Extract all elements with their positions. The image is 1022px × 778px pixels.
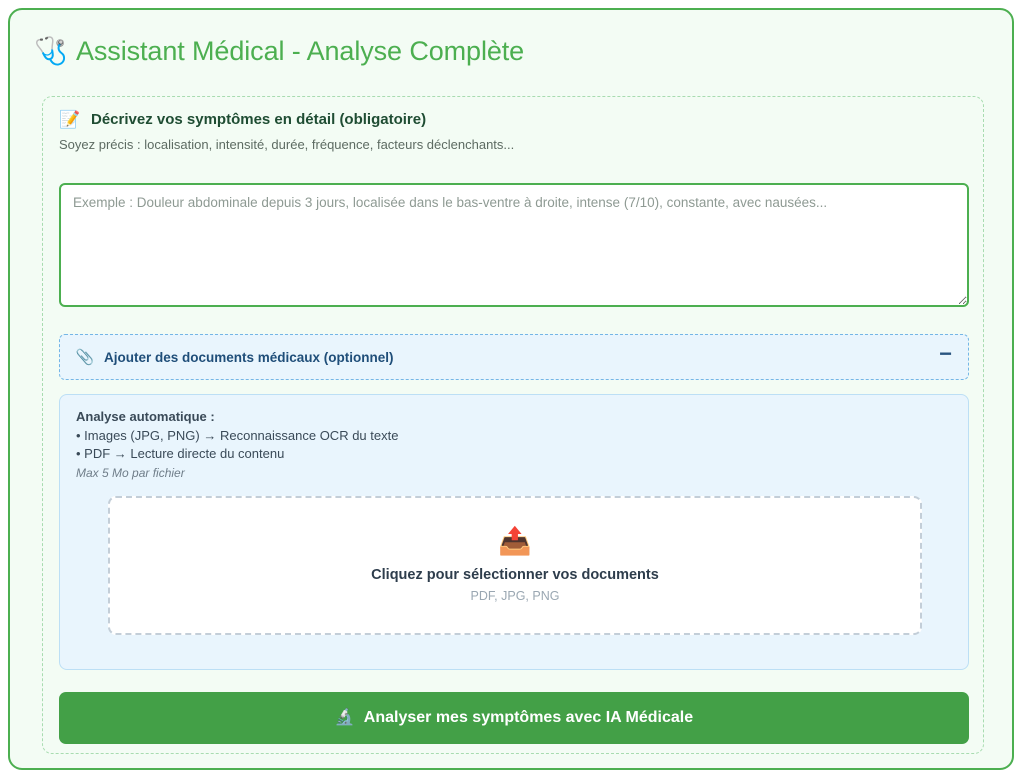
upload-tray-icon: 📤 <box>498 528 532 555</box>
attachments-label: Ajouter des documents médicaux (optionne… <box>104 350 394 365</box>
paperclip-icon: 📎 <box>74 350 96 365</box>
auto-analysis-line-images: • Images (JPG, PNG) → Reconnaissance OCR… <box>76 427 952 445</box>
symptoms-section-header: 📝 Décrivez vos symptômes en détail (obli… <box>43 97 983 128</box>
page-title: Assistant Médical - Analyse Complète <box>76 36 524 67</box>
analyze-symptoms-button[interactable]: 🔬 Analyser mes symptômes avec IA Médical… <box>59 692 969 744</box>
file-dropzone[interactable]: 📤 Cliquez pour sélectionner vos document… <box>108 496 922 635</box>
microscope-icon: 🔬 <box>335 710 355 726</box>
symptoms-hint: Soyez précis : localisation, intensité, … <box>43 128 983 152</box>
auto-analysis-title: Analyse automatique : <box>76 409 952 424</box>
attachments-panel: Analyse automatique : • Images (JPG, PNG… <box>59 394 969 670</box>
dropzone-label: Cliquez pour sélectionner vos documents <box>371 567 659 583</box>
memo-icon: 📝 <box>59 111 81 128</box>
form-panel: 📝 Décrivez vos symptômes en détail (obli… <box>42 96 984 754</box>
symptoms-label: Décrivez vos symptômes en détail (obliga… <box>91 111 426 128</box>
symptoms-input[interactable] <box>59 183 969 307</box>
app-card: 🩺 Assistant Médical - Analyse Complète 📝… <box>8 8 1014 770</box>
app-header: 🩺 Assistant Médical - Analyse Complète <box>10 10 1012 72</box>
collapse-minus-icon[interactable]: − <box>939 348 952 366</box>
analyze-button-label: Analyser mes symptômes avec IA Médicale <box>364 709 693 727</box>
attachments-toggle-header[interactable]: 📎 Ajouter des documents médicaux (option… <box>59 334 969 380</box>
dropzone-formats-hint: PDF, JPG, PNG <box>471 589 560 603</box>
max-size-note: Max 5 Mo par fichier <box>76 466 952 480</box>
auto-analysis-line-pdf: • PDF → Lecture directe du contenu <box>76 445 952 463</box>
stethoscope-icon: 🩺 <box>34 38 64 65</box>
